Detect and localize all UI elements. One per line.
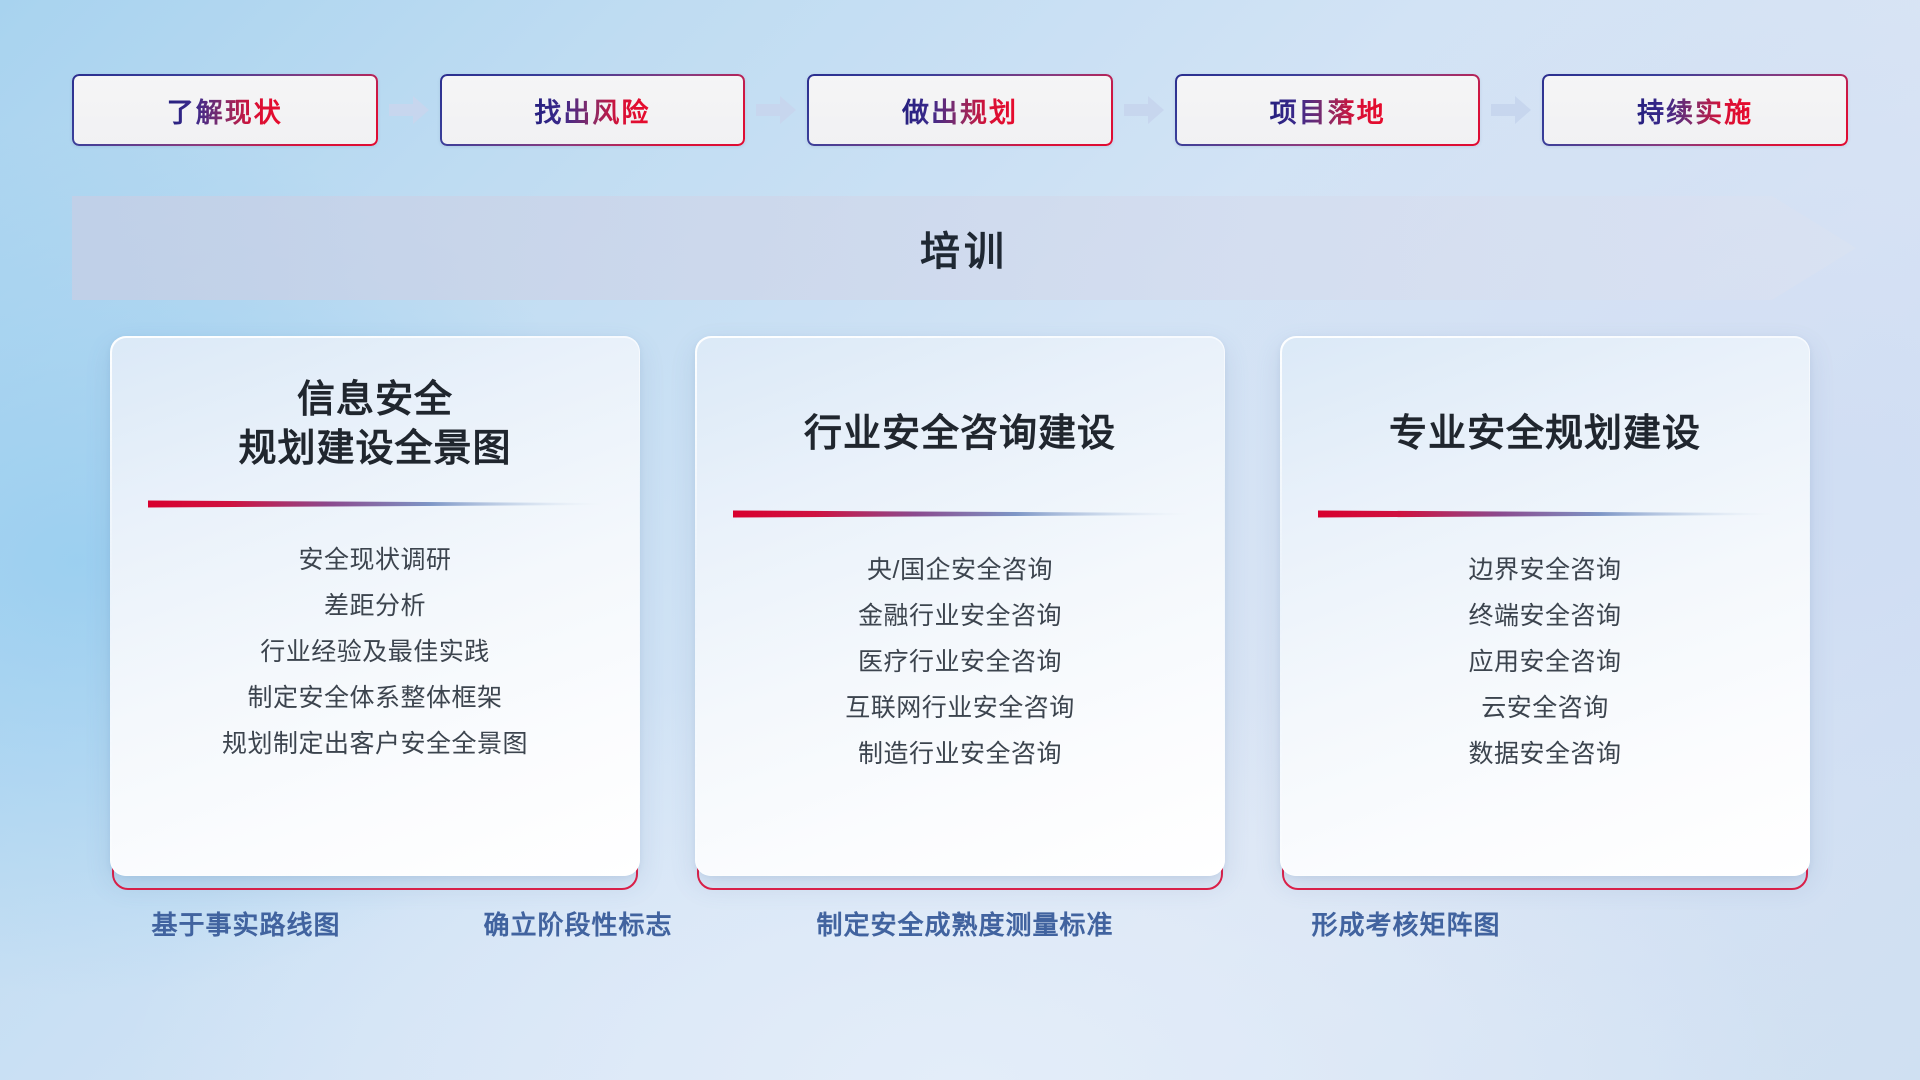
stage-label-4: 项目落地 <box>1270 91 1386 130</box>
list-item: 制定安全体系整体框架 <box>140 676 610 722</box>
list-item: 互联网行业安全咨询 <box>725 686 1195 732</box>
banner-title: 培训 <box>72 196 1856 300</box>
stage-arrow-icon-4 <box>1480 88 1542 132</box>
stage-box-4[interactable]: 项目落地 <box>1175 74 1481 146</box>
footer-label-2: 确立阶段性标志 <box>483 905 672 942</box>
footer-label-4: 形成考核矩阵图 <box>1311 905 1500 942</box>
stage-arrow-icon-3 <box>1113 88 1175 132</box>
list-item: 医疗行业安全咨询 <box>725 640 1195 686</box>
card-title-2-line-1: 行业安全咨询建设 <box>804 410 1116 459</box>
gradient-divider-icon-1 <box>148 499 603 508</box>
stage-flow-row: 了解现状 找出风险 做出规划 项目落地 持续实施 <box>72 74 1848 146</box>
card-info-security-panorama[interactable]: 信息安全 规划建设全景图 安全现状调研 差 <box>110 336 640 876</box>
stage-box-1[interactable]: 了解现状 <box>72 74 378 146</box>
card-list-2: 央/国企安全咨询 金融行业安全咨询 医疗行业安全咨询 互联网行业安全咨询 制造行… <box>725 548 1195 778</box>
stage-label-1: 了解现状 <box>167 91 283 130</box>
card-title-1-line-2: 规划建设全景图 <box>238 425 511 474</box>
list-item: 行业经验及最佳实践 <box>140 630 610 676</box>
stage-box-5[interactable]: 持续实施 <box>1542 74 1848 146</box>
footer-label-3: 制定安全成熟度测量标准 <box>816 905 1113 942</box>
list-item: 差距分析 <box>140 584 610 630</box>
card-title-1: 信息安全 规划建设全景图 <box>238 376 511 475</box>
footer-label-1: 基于事实路线图 <box>151 905 340 942</box>
card-list-1: 安全现状调研 差距分析 行业经验及最佳实践 制定安全体系整体框架 规划制定出客户… <box>140 538 610 768</box>
list-item: 规划制定出客户安全全景图 <box>140 722 610 768</box>
stage-label-2: 找出风险 <box>534 91 650 130</box>
list-item: 制造行业安全咨询 <box>725 732 1195 778</box>
list-item: 终端安全咨询 <box>1310 594 1780 640</box>
list-item: 安全现状调研 <box>140 538 610 584</box>
stage-arrow-icon-1 <box>378 88 440 132</box>
stage-label-5: 持续实施 <box>1637 91 1753 130</box>
card-title-2: 行业安全咨询建设 <box>804 410 1116 459</box>
training-banner: 培训 <box>72 196 1856 300</box>
stage-box-2[interactable]: 找出风险 <box>440 74 746 146</box>
gradient-divider-icon-3 <box>1318 509 1773 518</box>
footer-labels-row: 基于事实路线图 确立阶段性标志 制定安全成熟度测量标准 形成考核矩阵图 <box>0 905 1920 961</box>
stage-arrow-icon-2 <box>745 88 807 132</box>
list-item: 央/国企安全咨询 <box>725 548 1195 594</box>
card-title-3-line-1: 专业安全规划建设 <box>1389 410 1701 459</box>
card-title-3: 专业安全规划建设 <box>1389 410 1701 459</box>
list-item: 边界安全咨询 <box>1310 548 1780 594</box>
list-item: 金融行业安全咨询 <box>725 594 1195 640</box>
stage-box-3[interactable]: 做出规划 <box>807 74 1113 146</box>
gradient-divider-icon-2 <box>733 509 1188 518</box>
list-item: 云安全咨询 <box>1310 686 1780 732</box>
list-item: 数据安全咨询 <box>1310 732 1780 778</box>
card-title-1-line-1: 信息安全 <box>238 376 511 425</box>
card-list-3: 边界安全咨询 终端安全咨询 应用安全咨询 云安全咨询 数据安全咨询 <box>1310 548 1780 778</box>
card-professional-security-planning[interactable]: 专业安全规划建设 边界安全咨询 终端安全咨询 <box>1280 336 1810 876</box>
list-item: 应用安全咨询 <box>1310 640 1780 686</box>
cards-container: 信息安全 规划建设全景图 安全现状调研 差 <box>110 336 1810 876</box>
stage-label-3: 做出规划 <box>902 91 1018 130</box>
card-industry-security-consulting[interactable]: 行业安全咨询建设 央/国企安全咨询 金融行业安全咨询 <box>695 336 1225 876</box>
